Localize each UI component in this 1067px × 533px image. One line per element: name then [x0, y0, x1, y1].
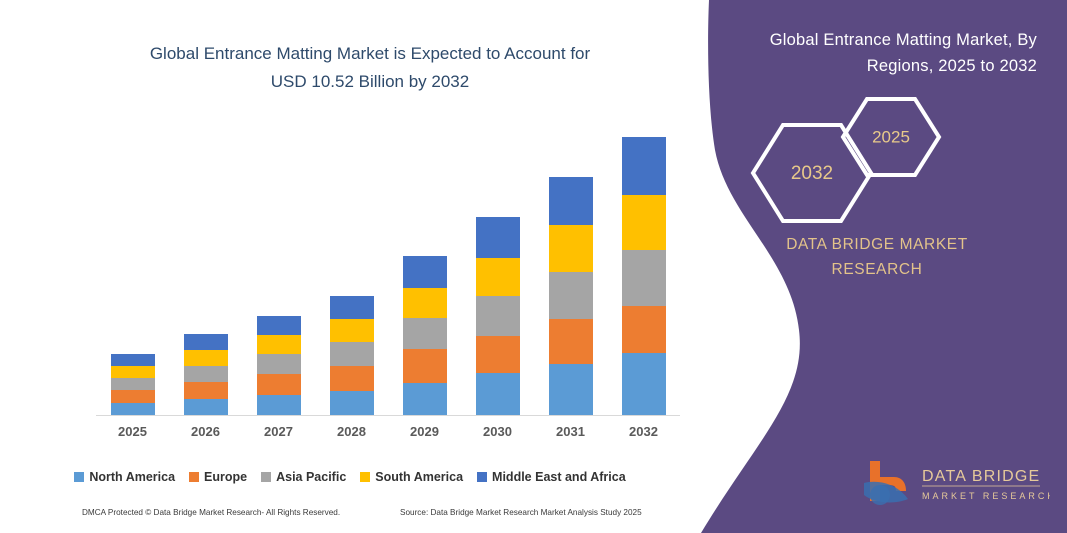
bar-segment[interactable] — [184, 366, 228, 382]
bar-column[interactable] — [111, 354, 155, 416]
bar-segment[interactable] — [403, 318, 447, 349]
brand-wordmark: DATA BRIDGE MARKET RESEARCH — [687, 232, 1067, 282]
x-axis-tick-labels: 20252026202720282029203020312032 — [96, 424, 680, 446]
bar-segment[interactable] — [403, 256, 447, 288]
x-axis-line — [96, 415, 680, 416]
bar-segment[interactable] — [111, 378, 155, 390]
bar-column[interactable] — [184, 334, 228, 416]
hexagon-2032: 2032 — [753, 125, 871, 221]
x-axis-label: 2031 — [541, 424, 601, 439]
bar-segment[interactable] — [111, 390, 155, 403]
x-axis-label: 2030 — [468, 424, 528, 439]
bar-segment[interactable] — [476, 296, 520, 336]
x-axis-label: 2029 — [395, 424, 455, 439]
chart-title-line-2: USD 10.52 Billion by 2032 — [60, 68, 680, 96]
bar-column[interactable] — [403, 256, 447, 416]
bar-segment[interactable] — [549, 225, 593, 272]
chart-title-line-1: Global Entrance Matting Market is Expect… — [60, 40, 680, 68]
legend-label: South America — [375, 470, 463, 484]
footer: DMCA Protected © Data Bridge Market Rese… — [0, 508, 700, 528]
bar-segment[interactable] — [476, 373, 520, 416]
bar-segment[interactable] — [257, 335, 301, 354]
data-bridge-logo: DATA BRIDGE MARKET RESEARCH — [850, 455, 1050, 513]
x-axis-label: 2032 — [614, 424, 674, 439]
bar-segment[interactable] — [111, 366, 155, 378]
legend-swatch-icon — [74, 472, 84, 482]
bar-segment[interactable] — [622, 353, 666, 416]
brand-line-2: RESEARCH — [687, 257, 1067, 282]
bar-segment[interactable] — [622, 306, 666, 353]
panel-title: Global Entrance Matting Market, By Regio… — [727, 27, 1037, 79]
hexagon-2025-label: 2025 — [872, 127, 910, 146]
bar-segment[interactable] — [330, 296, 374, 319]
legend-label: Asia Pacific — [276, 470, 346, 484]
bar-column[interactable] — [257, 316, 301, 416]
bar-column[interactable] — [330, 296, 374, 416]
bar-segment[interactable] — [257, 354, 301, 374]
panel-title-line-2: Regions, 2025 to 2032 — [727, 53, 1037, 79]
right-branding-panel: Global Entrance Matting Market, By Regio… — [687, 0, 1067, 533]
bar-segment[interactable] — [476, 336, 520, 373]
hexagon-2025: 2025 — [843, 99, 939, 175]
x-axis-label: 2027 — [249, 424, 309, 439]
bar-column[interactable] — [549, 177, 593, 416]
bar-segment[interactable] — [476, 258, 520, 296]
bar-segment[interactable] — [257, 395, 301, 416]
legend-item[interactable]: Middle East and Africa — [477, 470, 626, 484]
chart-legend: North AmericaEuropeAsia PacificSouth Ame… — [0, 470, 700, 484]
legend-label: Europe — [204, 470, 247, 484]
infographic-root: Global Entrance Matting Market is Expect… — [0, 0, 1067, 533]
bar-segment[interactable] — [549, 319, 593, 364]
x-axis-label: 2026 — [176, 424, 236, 439]
legend-item[interactable]: Asia Pacific — [261, 470, 346, 484]
legend-label: North America — [89, 470, 175, 484]
bar-segment[interactable] — [476, 217, 520, 258]
legend-item[interactable]: Europe — [189, 470, 247, 484]
legend-item[interactable]: North America — [74, 470, 175, 484]
bar-segment[interactable] — [549, 364, 593, 416]
bar-segment[interactable] — [111, 354, 155, 366]
bar-segment[interactable] — [549, 177, 593, 225]
bar-segment[interactable] — [257, 316, 301, 335]
logo-name-line-2: MARKET RESEARCH — [922, 491, 1050, 501]
bar-segment[interactable] — [330, 391, 374, 416]
brand-line-1: DATA BRIDGE MARKET — [687, 232, 1067, 257]
bar-segment[interactable] — [330, 342, 374, 366]
stacked-bar-plot — [96, 120, 686, 416]
bar-segment[interactable] — [622, 195, 666, 250]
bar-segment[interactable] — [257, 374, 301, 395]
x-axis-label: 2025 — [103, 424, 163, 439]
legend-swatch-icon — [360, 472, 370, 482]
bar-segment[interactable] — [184, 399, 228, 416]
footer-source: Source: Data Bridge Market Research Mark… — [400, 508, 642, 517]
bar-column[interactable] — [476, 217, 520, 416]
bar-segment[interactable] — [184, 334, 228, 350]
logo-name-line-1: DATA BRIDGE — [922, 468, 1040, 485]
bar-segment[interactable] — [330, 366, 374, 391]
bar-segment[interactable] — [184, 350, 228, 366]
bar-segment[interactable] — [549, 272, 593, 319]
legend-item[interactable]: South America — [360, 470, 463, 484]
footer-copyright: DMCA Protected © Data Bridge Market Rese… — [82, 508, 340, 517]
legend-label: Middle East and Africa — [492, 470, 626, 484]
chart-title: Global Entrance Matting Market is Expect… — [60, 40, 680, 96]
bar-segment[interactable] — [184, 382, 228, 399]
hexagon-2032-label: 2032 — [791, 163, 833, 184]
panel-title-line-1: Global Entrance Matting Market, By — [727, 27, 1037, 53]
bar-segment[interactable] — [330, 319, 374, 342]
bar-segment[interactable] — [403, 383, 447, 416]
bar-segment[interactable] — [622, 137, 666, 195]
legend-swatch-icon — [477, 472, 487, 482]
legend-swatch-icon — [189, 472, 199, 482]
bar-segment[interactable] — [403, 288, 447, 318]
bar-segment[interactable] — [622, 250, 666, 306]
logo-b-mark-icon — [864, 461, 908, 505]
legend-swatch-icon — [261, 472, 271, 482]
bar-segment[interactable] — [403, 349, 447, 382]
bar-column[interactable] — [622, 137, 666, 416]
x-axis-label: 2028 — [322, 424, 382, 439]
